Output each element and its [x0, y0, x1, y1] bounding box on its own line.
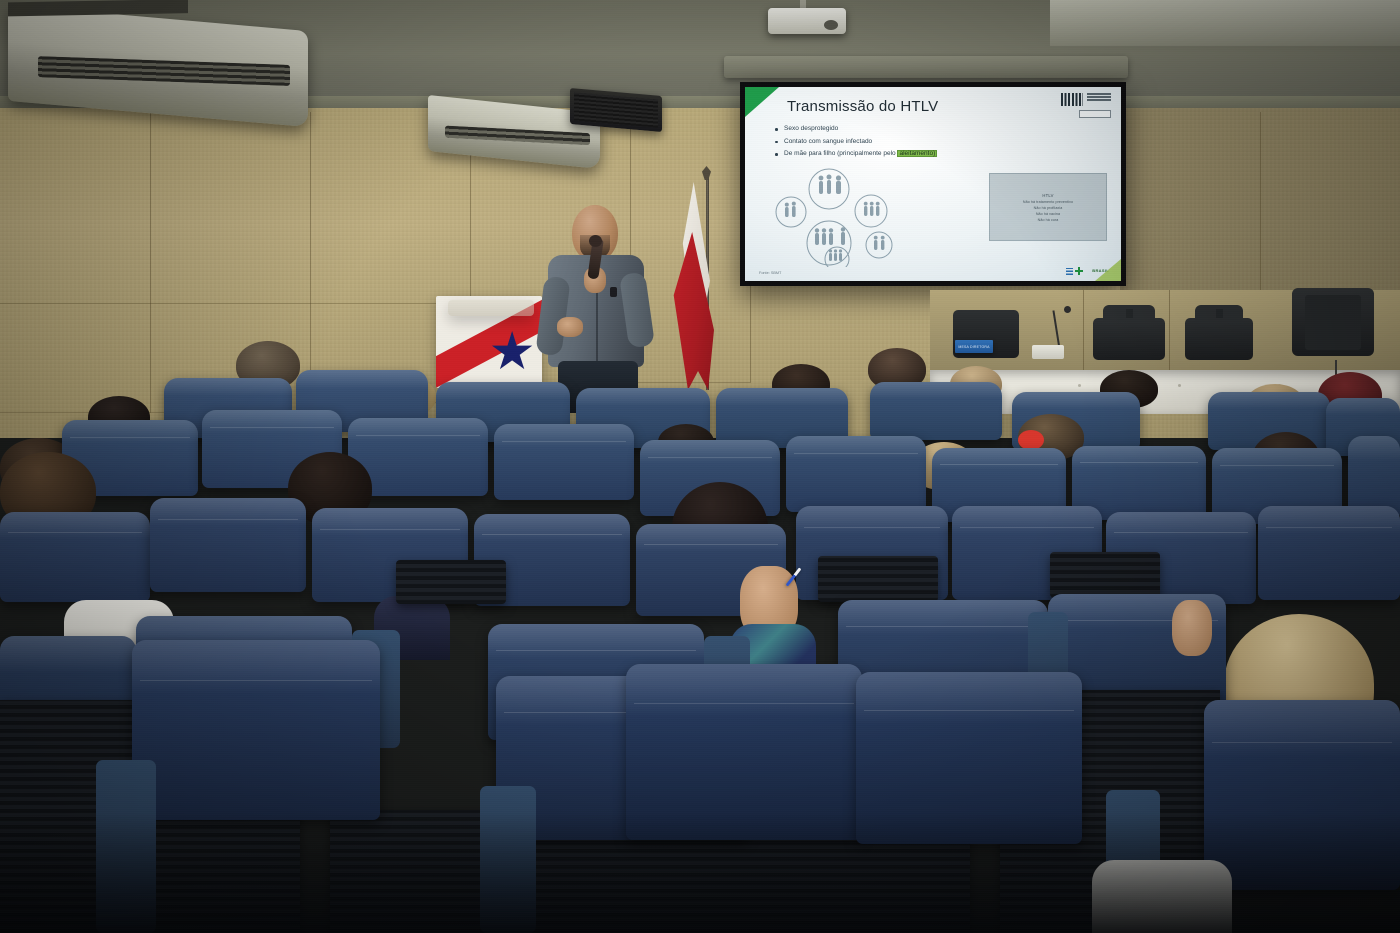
logo-pill [1079, 110, 1111, 118]
slide-highlight: aleitamento) [897, 150, 937, 157]
seat[interactable] [870, 382, 1002, 440]
logo-mark [1061, 93, 1083, 106]
seat-back-slats [1050, 552, 1160, 598]
ac-vent [38, 56, 290, 86]
screen-housing [724, 56, 1128, 78]
chair-armchair[interactable] [1292, 288, 1374, 356]
slide-bottom-accent [1095, 259, 1121, 281]
seat[interactable] [494, 424, 634, 500]
audience-arm [1172, 600, 1212, 656]
panel-stud [1178, 384, 1181, 387]
seat[interactable] [1258, 506, 1400, 600]
microphone-base [1032, 345, 1064, 359]
health-cross-icon [1075, 267, 1083, 275]
seat[interactable] [150, 498, 306, 592]
logo-bars [1066, 268, 1073, 275]
chair-neck [1126, 309, 1133, 318]
wristwatch-icon [610, 287, 617, 297]
microphone-capsule-icon [1064, 306, 1071, 313]
panel-stud [1078, 384, 1081, 387]
microphone-head [589, 235, 602, 247]
slide-bullet: Contato com sangue infectado [775, 138, 937, 145]
wall-panel-seam [0, 302, 471, 304]
hair-scrunchie [1018, 430, 1044, 450]
projector-icon [768, 8, 846, 34]
slide-institution-logo [1061, 93, 1111, 106]
wall-panel-seam [0, 112, 151, 413]
presenter-hand-gesture [557, 317, 583, 337]
bullet-text: De mãe para filho (principalmente pelo [784, 150, 896, 157]
table-panel-seam [1082, 290, 1084, 379]
info-box-line: Não há cura [1038, 218, 1059, 222]
projection-screen: Transmissão do HTLV Sexo desprotegido Co… [740, 82, 1126, 286]
ac-vent [445, 125, 590, 145]
chair-executive-3[interactable] [1185, 318, 1253, 360]
slide-bullet-list: Sexo desprotegido Contato com sangue inf… [775, 125, 937, 163]
info-box-line: Não há profilaxia [1034, 206, 1063, 210]
ceiling-light-panel [1050, 0, 1400, 46]
seat[interactable] [132, 640, 380, 820]
slide-title: Transmissão do HTLV [787, 98, 938, 115]
slide-info-box: HTLV Não há tratamento preventivo Não há… [989, 173, 1107, 241]
auditorium-photo: Transmissão do HTLV Sexo desprotegido Co… [0, 0, 1400, 933]
presenter [540, 205, 660, 405]
info-box-line: Não há tratamento preventivo [1023, 200, 1073, 204]
projector-lens [824, 20, 838, 30]
speaker-grill [574, 92, 658, 127]
slide-corner-accent [745, 87, 779, 117]
seat[interactable] [0, 512, 150, 602]
foreground-shadow [0, 813, 1400, 933]
presentation-slide: Transmissão do HTLV Sexo desprotegido Co… [745, 87, 1121, 281]
chair-neck [1216, 309, 1223, 318]
armchair-cushion [1305, 295, 1361, 350]
slide-source-note: Fonte: SBMT [759, 271, 781, 275]
placard-text: MESA DIRETORA [958, 345, 989, 349]
seat-back-slats [396, 560, 506, 604]
chair-executive-2[interactable] [1093, 318, 1165, 360]
seat-back-slats [818, 556, 938, 602]
lectern [448, 300, 534, 316]
slide-bullet: De mãe para filho (principalmente pelo a… [775, 150, 937, 157]
seat[interactable] [786, 436, 926, 512]
logo-text-lines [1087, 93, 1111, 101]
name-placard: MESA DIRETORA [955, 340, 993, 353]
info-box-title: HTLV [1042, 193, 1053, 198]
info-box-line: Não há vacina [1036, 212, 1060, 216]
sus-logo-icon [1066, 267, 1083, 275]
slide-people-diagram [767, 167, 897, 267]
slide-bullet: Sexo desprotegido [775, 125, 937, 132]
table-panel-seam [1168, 290, 1170, 379]
